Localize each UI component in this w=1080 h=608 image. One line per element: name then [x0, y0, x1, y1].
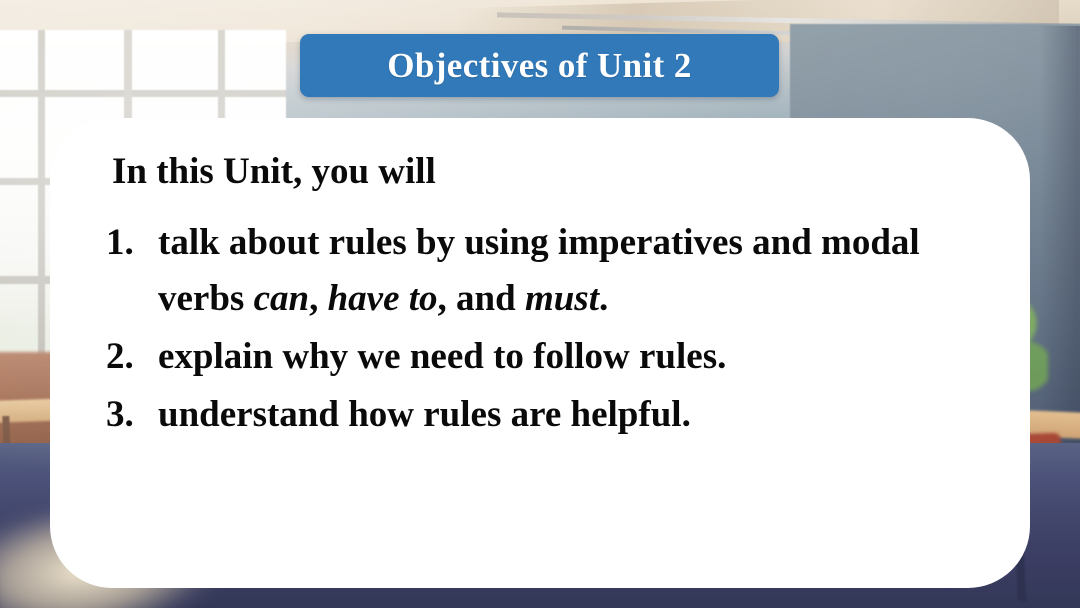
slide-root: Objectives of Unit 2 In this Unit, you w… [0, 0, 1080, 608]
objective-item: 3.understand how rules are helpful. [82, 387, 986, 443]
content-card: In this Unit, you will 1.talk about rule… [50, 118, 1030, 588]
objectives-list: 1.talk about rules by using imperatives … [82, 215, 986, 444]
objective-text: explain why we need to follow rules. [158, 329, 986, 385]
objective-number: 1. [106, 215, 158, 271]
title-banner: Objectives of Unit 2 [300, 34, 779, 97]
objective-number: 3. [106, 387, 158, 443]
objective-item: 1.talk about rules by using imperatives … [82, 215, 986, 327]
objective-number: 2. [106, 329, 158, 385]
objective-item: 2.explain why we need to follow rules. [82, 329, 986, 385]
slide-title: Objectives of Unit 2 [387, 48, 691, 83]
objective-text: understand how rules are helpful. [158, 387, 986, 443]
lead-in-text: In this Unit, you will [112, 152, 986, 193]
objective-text: talk about rules by using imperatives an… [158, 215, 986, 327]
